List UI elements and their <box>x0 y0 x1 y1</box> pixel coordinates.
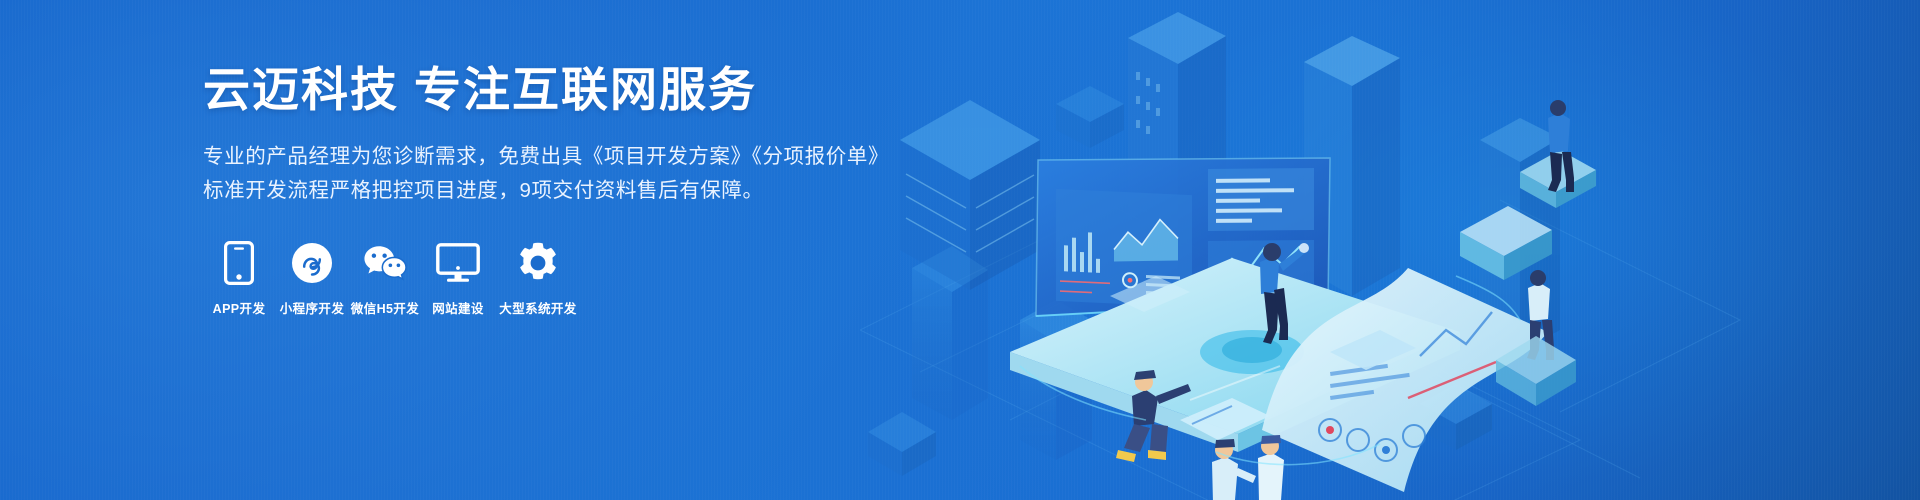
mini-program-icon <box>290 241 334 285</box>
page-title: 云迈科技 专注互联网服务 <box>203 64 923 117</box>
service-label-wechat-h5: 微信H5开发 <box>351 298 419 317</box>
subtitle-line-1: 专业的产品经理为您诊断需求，免费出具《项目开发方案》《分项报价单》 <box>203 140 923 174</box>
service-label-large-system: 大型系统开发 <box>499 298 576 317</box>
hero-banner: 云迈科技 专注互联网服务 专业的产品经理为您诊断需求，免费出具《项目开发方案》《… <box>0 0 1920 500</box>
banner-subtitle: 专业的产品经理为您诊断需求，免费出具《项目开发方案》《分项报价单》 标准开发流程… <box>203 140 923 208</box>
service-list: APP开发 小程序开发 <box>203 241 923 317</box>
service-label-app: APP开发 <box>213 298 266 317</box>
mobile-phone-icon <box>217 241 261 285</box>
service-label-website: 网站建设 <box>432 298 484 317</box>
service-item-mini-program[interactable]: 小程序开发 <box>276 241 348 317</box>
service-item-wechat-h5[interactable]: 微信H5开发 <box>349 241 421 317</box>
service-label-mini-program: 小程序开发 <box>280 298 345 317</box>
service-item-large-system[interactable]: 大型系统开发 <box>495 241 581 317</box>
isometric-tech-dashboard-illustration <box>860 0 1920 500</box>
subtitle-line-2: 标准开发流程严格把控项目进度，9项交付资料售后有保障。 <box>203 174 923 208</box>
gear-icon <box>516 241 560 285</box>
banner-content: 云迈科技 专注互联网服务 专业的产品经理为您诊断需求，免费出具《项目开发方案》《… <box>203 64 923 317</box>
wechat-icon <box>363 241 407 285</box>
service-item-app[interactable]: APP开发 <box>203 241 275 317</box>
monitor-icon <box>436 241 480 285</box>
service-item-website[interactable]: 网站建设 <box>422 241 494 317</box>
